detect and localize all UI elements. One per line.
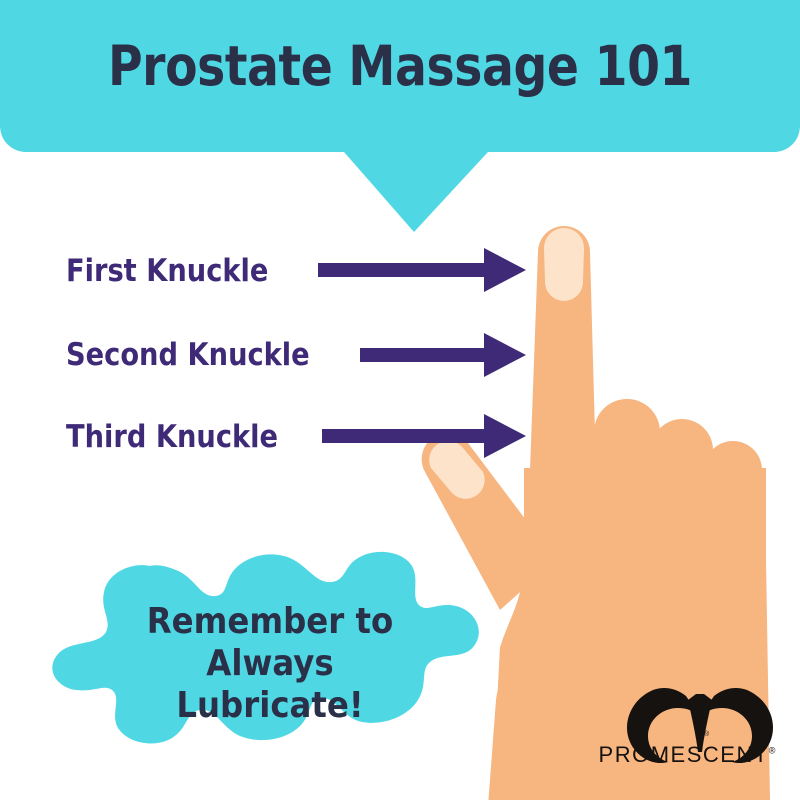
logo-registered-mark: ®	[704, 730, 710, 738]
splash-message-line-2: Always Lubricate!	[113, 643, 426, 727]
label-third-knuckle: Third Knuckle	[66, 422, 278, 453]
arrow-shaft	[322, 429, 494, 443]
label-first-knuckle: First Knuckle	[66, 256, 268, 287]
arrow-shaft	[360, 348, 494, 362]
index-fingernail	[544, 228, 584, 301]
brand-wordmark: PROMESCENT®	[592, 742, 782, 768]
splash-message: Remember to Always Lubricate!	[113, 601, 426, 726]
label-second-knuckle: Second Knuckle	[66, 340, 310, 371]
infographic-canvas: ® Prostate Massage 101 First Knuckle Sec…	[0, 0, 800, 800]
brand-wordmark-text: PROMESCENT	[599, 742, 769, 767]
page-title: Prostate Massage 101	[56, 36, 744, 97]
brand-registered-symbol: ®	[769, 746, 776, 756]
arrow-shaft	[318, 263, 494, 277]
splash-message-line-1: Remember to	[113, 601, 426, 643]
